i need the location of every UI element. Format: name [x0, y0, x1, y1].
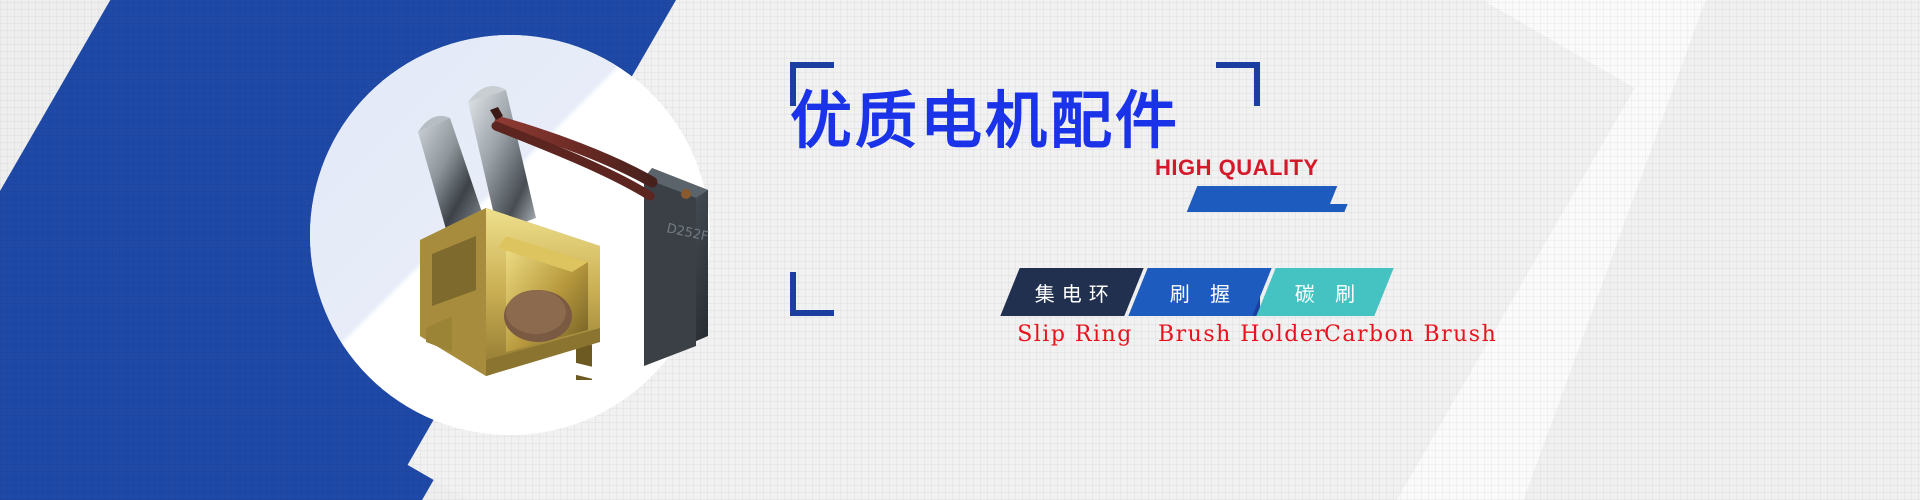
banner-headline: 优质电机配件	[790, 88, 1180, 153]
product-image: D252F	[300, 40, 740, 380]
banner-content	[960, 0, 1920, 500]
accent-parallelogram-stripe	[1194, 204, 1347, 212]
tab-brush-holder[interactable]: 刷 握	[1128, 268, 1271, 316]
tab-brush-holder-label: 刷 握	[1163, 278, 1237, 307]
label-slip-ring-en: Slip Ring	[1000, 322, 1150, 347]
tab-carbon-brush[interactable]: 碳 刷	[1256, 268, 1393, 316]
tab-carbon-brush-label: 碳 刷	[1288, 278, 1362, 307]
tab-slip-ring-label: 集电环	[1028, 278, 1116, 307]
category-tab-row: 集电环 刷 握 碳 刷	[1010, 268, 1388, 316]
label-carbon-brush-en: Carbon Brush	[1324, 322, 1484, 347]
banner-subheadline: HIGH QUALITY	[1155, 155, 1319, 181]
promo-banner: D252F 优质电机配件 HIGH QUALITY 集电环	[0, 0, 1920, 500]
corner-bracket-top-right	[1216, 62, 1260, 106]
label-brush-holder-en: Brush Holder	[1158, 322, 1318, 347]
tab-slip-ring[interactable]: 集电环	[1000, 268, 1143, 316]
category-english-labels: Slip Ring Brush Holder Carbon Brush	[1000, 322, 1484, 347]
corner-bracket-bottom-left	[790, 272, 834, 316]
